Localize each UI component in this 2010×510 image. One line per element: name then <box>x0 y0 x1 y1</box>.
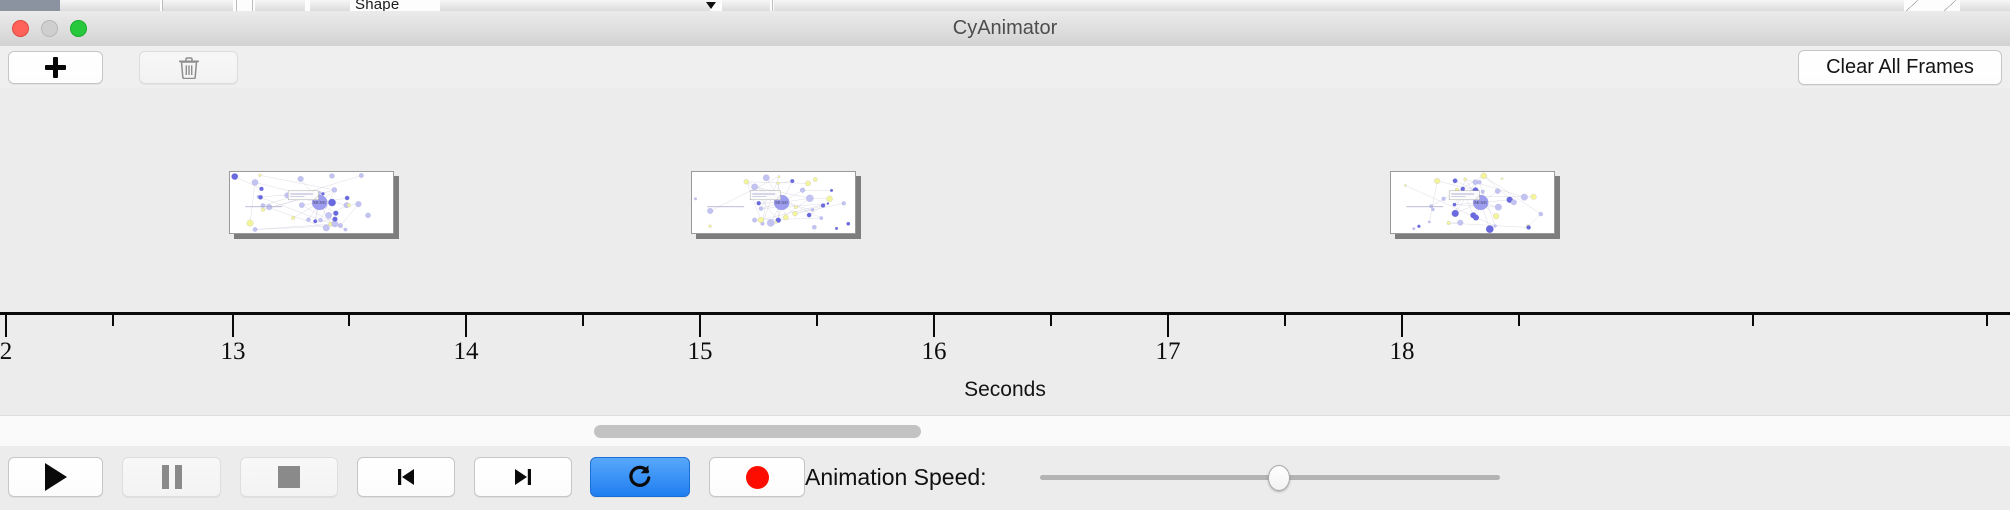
bg-fragment-panel-1 <box>60 0 160 11</box>
axis-tick-label: 17 <box>1156 338 1181 366</box>
axis-tick-minor <box>816 315 818 326</box>
frame-thumbnail[interactable]: MCM1 <box>691 171 856 234</box>
window-title: CyAnimator <box>0 11 2010 46</box>
title-bar[interactable]: CyAnimator <box>0 11 2010 47</box>
axis-tick-major <box>1401 315 1403 337</box>
axis-tick-label: 15 <box>688 338 713 366</box>
play-icon <box>45 463 67 491</box>
frame-thumbnail[interactable]: MCM1 <box>229 171 394 234</box>
axis-tick-major <box>699 315 701 337</box>
record-button[interactable] <box>709 457 805 497</box>
timeline-panel[interactable]: MCM1MCM1MCM1 2131415161718 Seconds <box>0 88 2010 415</box>
svg-text:MCM1: MCM1 <box>1474 200 1487 205</box>
bg-fragment-panel-5 <box>440 0 710 11</box>
bg-slant-2 <box>1944 0 1956 11</box>
bg-divider-2 <box>236 0 237 11</box>
axis-tick-major <box>5 315 7 337</box>
axis-tick-minor <box>1986 315 1988 326</box>
clear-all-frames-button[interactable]: Clear All Frames <box>1798 50 2002 85</box>
frame-thumbnail[interactable]: MCM1 <box>1390 171 1555 234</box>
play-button[interactable] <box>8 457 103 497</box>
bg-divider-4 <box>772 0 773 11</box>
timeline-scrollbar[interactable] <box>0 415 2010 447</box>
record-icon <box>746 466 769 489</box>
axis-tick-label: 2 <box>0 338 12 366</box>
bg-slant-1 <box>1906 0 1918 11</box>
axis-tick-minor <box>348 315 350 326</box>
animation-speed-slider-thumb[interactable] <box>1268 465 1290 491</box>
axis-tick-major <box>1167 315 1169 337</box>
bg-window-label: Shape <box>355 0 399 11</box>
axis-tick-minor <box>582 315 584 326</box>
network-thumbnail-graphic: MCM1 <box>692 172 855 233</box>
bg-fragment-panel-3 <box>255 0 305 11</box>
axis-tick-minor <box>1284 315 1286 326</box>
network-thumbnail-graphic: MCM1 <box>230 172 393 233</box>
timeline-frame[interactable]: MCM1 <box>229 171 394 234</box>
toolbar: Clear All Frames <box>0 46 2010 89</box>
bg-dropdown-arrow-icon <box>706 2 716 9</box>
network-thumbnail-graphic: MCM1 <box>1391 172 1554 233</box>
skip-forward-icon <box>510 464 536 490</box>
axis-tick-minor <box>1752 315 1754 326</box>
delete-frame-button[interactable] <box>139 51 238 84</box>
timeline-frame[interactable]: MCM1 <box>1390 171 1555 234</box>
skip-back-icon <box>393 464 419 490</box>
pause-icon <box>162 465 182 489</box>
cyanimator-window: Shape CyAnimator <box>0 0 2010 510</box>
pause-button[interactable] <box>122 457 221 497</box>
bg-fragment-titlebar <box>0 0 60 11</box>
bg-fragment-panel-6 <box>722 0 770 11</box>
loop-icon <box>625 462 655 492</box>
stop-icon <box>278 466 300 488</box>
axis-tick-label: 16 <box>922 338 947 366</box>
axis-tick-label: 13 <box>221 338 246 366</box>
playback-control-bar: Animation Speed: <box>0 446 2010 510</box>
axis-tick-major <box>933 315 935 337</box>
svg-text:MCM1: MCM1 <box>313 200 326 205</box>
trash-icon <box>179 57 199 79</box>
scrollbar-track[interactable] <box>0 416 2010 444</box>
bg-fragment-panel-8 <box>1960 0 2010 11</box>
bg-fragment-panel-4 <box>310 0 350 11</box>
axis-tick-major <box>232 315 234 337</box>
clear-all-frames-label: Clear All Frames <box>1826 56 1974 79</box>
axis-title: Seconds <box>0 378 2010 402</box>
stop-button[interactable] <box>240 457 338 497</box>
background-window-strip: Shape <box>0 0 2010 11</box>
plus-icon <box>45 57 66 78</box>
skip-to-end-button[interactable] <box>474 457 572 497</box>
timeline-frame[interactable]: MCM1 <box>691 171 856 234</box>
axis-tick-minor <box>1518 315 1520 326</box>
add-frame-button[interactable] <box>8 51 103 84</box>
loop-button[interactable] <box>590 457 690 497</box>
axis-tick-minor <box>112 315 114 326</box>
bg-fragment-panel-2 <box>163 0 233 11</box>
axis-tick-label: 18 <box>1390 338 1415 366</box>
axis-tick-label: 14 <box>454 338 479 366</box>
axis-tick-major <box>465 315 467 337</box>
scrollbar-thumb[interactable] <box>594 425 921 438</box>
bg-divider-3 <box>252 0 253 11</box>
bg-fragment-panel-7 <box>774 0 1904 11</box>
skip-to-start-button[interactable] <box>357 457 455 497</box>
timeline-axis <box>0 312 2010 315</box>
axis-tick-minor <box>1050 315 1052 326</box>
svg-text:MCM1: MCM1 <box>775 200 788 205</box>
animation-speed-label: Animation Speed: <box>805 457 987 497</box>
